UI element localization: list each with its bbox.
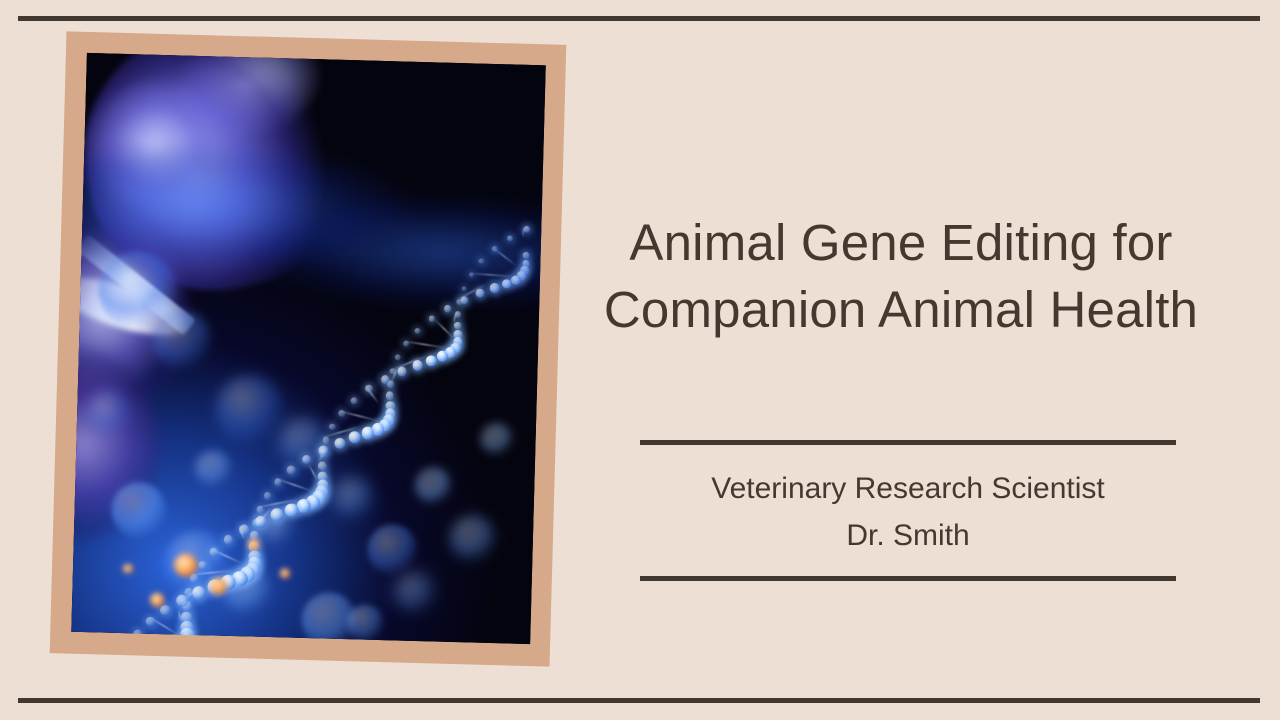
helix-bead	[349, 431, 361, 443]
top-divider-rule	[18, 16, 1260, 21]
helix-bead	[426, 355, 437, 366]
bottom-divider-rule	[18, 698, 1260, 703]
photo-frame	[50, 31, 567, 666]
helix-bead	[264, 492, 272, 500]
subtitle-text: Veterinary Research Scientist Dr. Smith	[640, 445, 1176, 576]
helix-bead	[386, 392, 395, 401]
subtitle-name: Dr. Smith	[640, 512, 1176, 559]
helix-bead	[176, 595, 188, 607]
helix-bead	[351, 397, 358, 404]
helix-bead	[318, 461, 327, 470]
helix-bead	[180, 628, 195, 643]
helix-bead	[397, 367, 407, 377]
helix-bead	[415, 328, 421, 334]
helix-bead	[412, 360, 423, 371]
helix-bead	[198, 561, 207, 570]
amber-glint	[123, 564, 132, 573]
helix-bead	[329, 423, 336, 430]
helix-bead	[255, 516, 267, 528]
subtitle-bottom-rule	[640, 576, 1176, 581]
helix-bead	[297, 499, 311, 513]
subtitle-role: Veterinary Research Scientist	[640, 465, 1176, 512]
helix-rung	[433, 319, 453, 339]
helix-bead	[287, 466, 296, 475]
dna-helix-photo	[71, 53, 545, 644]
helix-bead	[178, 634, 194, 644]
page-title: Animal Gene Editing for Companion Animal…	[588, 209, 1214, 344]
helix-bead	[160, 605, 171, 616]
helix-bead	[192, 586, 206, 600]
amber-glint	[210, 578, 227, 595]
helix-bead	[318, 445, 328, 455]
amber-glint	[279, 568, 289, 578]
helix-bead	[437, 351, 448, 362]
helix-bead	[334, 437, 345, 448]
helix-rung	[307, 464, 318, 481]
helix-bead	[395, 355, 401, 361]
title-slide: Animal Gene Editing for Companion Animal…	[0, 0, 1280, 720]
helix-rung	[404, 340, 446, 348]
subtitle-block: Veterinary Research Scientist Dr. Smith	[640, 440, 1176, 581]
helix-bead	[302, 455, 311, 464]
helix-bead	[271, 509, 284, 522]
helix-rung	[149, 617, 179, 636]
helix-bead	[454, 322, 462, 330]
helix-rung	[275, 478, 312, 493]
helix-bead	[223, 535, 233, 545]
amber-glint	[174, 553, 198, 577]
helix-bead	[285, 503, 299, 517]
helix-bead	[361, 427, 374, 440]
lower-glitter-glow	[71, 53, 545, 310]
helix-bead	[133, 629, 142, 638]
helix-bead	[174, 638, 191, 644]
